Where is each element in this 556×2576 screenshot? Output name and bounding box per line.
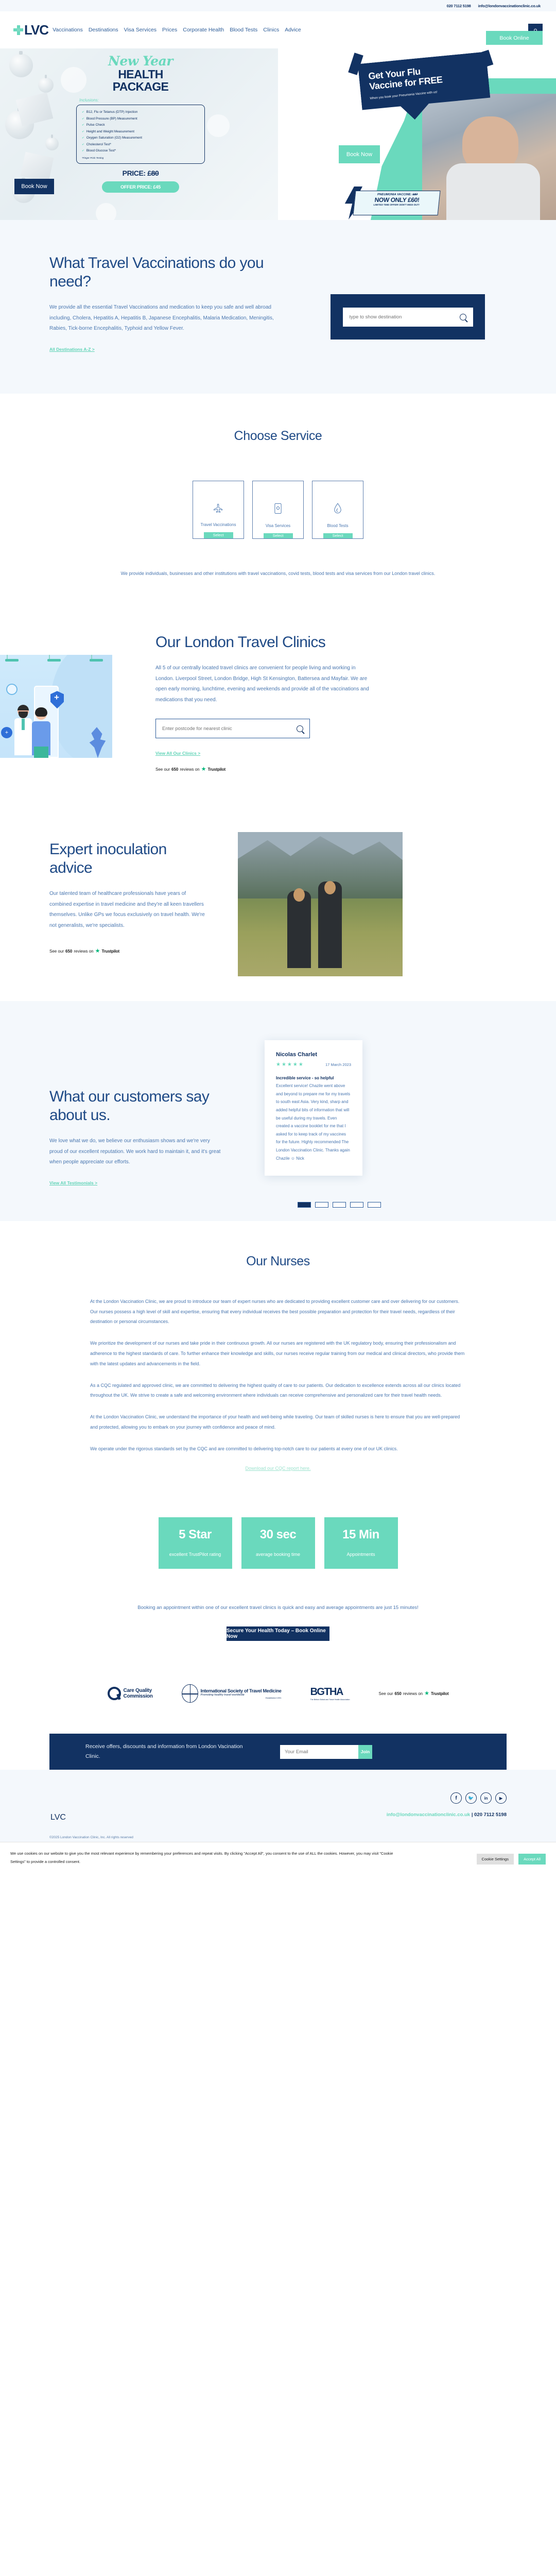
choose-service-note: We provide individuals, businesses and o… bbox=[0, 569, 556, 579]
all-destinations-link[interactable]: All Destinations A-Z > bbox=[49, 347, 95, 352]
newsletter-signup: Receive offers, discounts and informatio… bbox=[49, 1734, 507, 1770]
istm-line1: International Society of Travel Medicine bbox=[201, 1688, 282, 1693]
travel-title: What Travel Vaccinations do you need? bbox=[49, 254, 276, 291]
tp-count: 650 bbox=[395, 1691, 402, 1696]
tp-middle: reviews on bbox=[74, 949, 93, 954]
download-cqc-report-link[interactable]: Download our CQC report here. bbox=[0, 1466, 556, 1471]
price-label: PRICE: bbox=[123, 169, 146, 177]
expert-text-column: Expert inoculation advice Our talented t… bbox=[0, 810, 206, 954]
expert-body: Our talented team of healthcare professi… bbox=[49, 889, 206, 931]
main-navigation: Vaccinations Destinations Visa Services … bbox=[53, 23, 372, 37]
inclusions-footnote: *Finger Prick Testing bbox=[82, 157, 199, 159]
nurses-title: Our Nurses bbox=[0, 1254, 556, 1269]
stat-label: excellent TrustPilot rating bbox=[169, 1551, 221, 1558]
testimonials-text-column: What our customers say about us. We love… bbox=[0, 1040, 221, 1187]
hiker-head bbox=[324, 881, 336, 894]
hero-eyebrow: New Year bbox=[76, 55, 205, 67]
ceiling-lamp-icon bbox=[5, 659, 19, 662]
copyright-text: ©2025 London Vaccination Clinic, Inc. Al… bbox=[49, 1836, 133, 1839]
trustpilot-star-icon: ★ bbox=[201, 767, 206, 772]
youtube-icon[interactable]: ▶ bbox=[495, 1792, 507, 1804]
twitter-icon[interactable]: 🐦 bbox=[465, 1792, 477, 1804]
footer-logo[interactable]: LVC bbox=[49, 1813, 66, 1822]
testimonial-author: Nicolas Charlet bbox=[276, 1052, 351, 1058]
trustpilot-star-icon: ★ bbox=[95, 948, 100, 954]
search-icon[interactable] bbox=[297, 725, 303, 732]
hikers-photo bbox=[238, 832, 403, 976]
stat-value: 30 sec bbox=[260, 1528, 296, 1542]
inclusion-item: B12, Flu or Tetanus (DTP) Injection bbox=[82, 109, 199, 115]
service-card-visa-services[interactable]: Visa Services Select bbox=[252, 481, 304, 539]
stat-trustpilot-rating: 5 Star excellent TrustPilot rating bbox=[159, 1517, 232, 1569]
cookie-consent-banner: We use cookies on our website to give yo… bbox=[0, 1842, 556, 1874]
nav-item-prices[interactable]: Prices bbox=[162, 23, 177, 37]
destination-search-panel bbox=[331, 294, 485, 340]
cqc-line2: Commission bbox=[124, 1693, 153, 1699]
tp-brand: Trustpilot bbox=[102, 949, 119, 954]
testimonial-date: 17 March 2023 bbox=[325, 1062, 351, 1067]
section-expert-advice: Expert inoculation advice Our talented t… bbox=[0, 793, 556, 1001]
clinics-text-column: Our London Travel Clinics All 5 of our c… bbox=[155, 609, 372, 772]
tp-prefix: See our bbox=[155, 767, 170, 772]
pneumonia-note: LIMITED TIME OFFER! DON'T MISS OUT! bbox=[357, 204, 436, 206]
logo-text: LVC bbox=[24, 23, 48, 37]
section-choose-service: Choose Service Travel Vaccinations Selec… bbox=[0, 394, 556, 610]
nav-item-visa-services[interactable]: Visa Services bbox=[124, 23, 157, 37]
tp-count: 650 bbox=[171, 767, 178, 772]
accreditation-badges: Care Quality Commission International So… bbox=[0, 1641, 556, 1734]
facebook-icon[interactable]: f bbox=[450, 1792, 462, 1804]
hero-slide-health-package[interactable]: New Year HEALTHPACKAGE Inclusions: B12, … bbox=[0, 48, 278, 220]
choose-service-title: Choose Service bbox=[0, 429, 556, 444]
section-travel-vaccinations: What Travel Vaccinations do you need? We… bbox=[0, 220, 556, 394]
utility-topbar: 020 7112 5198 info@londonvaccinationclin… bbox=[0, 0, 556, 11]
service-card-blood-tests[interactable]: Blood Tests Select bbox=[312, 481, 363, 539]
section-stats: 5 Star excellent TrustPilot rating 30 se… bbox=[0, 1476, 556, 1641]
stat-label: average booking time bbox=[256, 1551, 300, 1558]
price-old: £80 bbox=[147, 169, 159, 177]
secure-health-cta-button[interactable]: Secure Your Health Today – Book Online N… bbox=[227, 1626, 329, 1641]
sick-woman-photo bbox=[422, 94, 556, 220]
tp-middle: reviews on bbox=[403, 1691, 423, 1696]
stat-booking-time: 30 sec average booking time bbox=[241, 1517, 315, 1569]
view-all-clinics-link[interactable]: View All Our Clinics > bbox=[155, 751, 200, 756]
book-online-button[interactable]: Book Online bbox=[486, 31, 543, 45]
cookie-text: We use cookies on our website to give yo… bbox=[10, 1850, 402, 1866]
footer-email[interactable]: info@londonvaccinationclinic.co.uk bbox=[387, 1812, 470, 1818]
gift-decor bbox=[21, 152, 54, 182]
trustpilot-badge-clinics[interactable]: See our 650 reviews on ★ Trustpilot bbox=[155, 767, 372, 772]
testimonial-body: Excellent service! Chazile went above an… bbox=[276, 1082, 351, 1162]
testimonial-title: Incredible service - so helpful bbox=[276, 1076, 351, 1080]
cookie-accept-all-button[interactable]: Accept All bbox=[518, 1854, 546, 1865]
section-london-clinics: + ✓ Our London Travel Clinics All 5 of o… bbox=[0, 609, 556, 793]
clinic-illustration: + ✓ bbox=[0, 655, 112, 758]
service-card-travel-vaccinations[interactable]: Travel Vaccinations Select bbox=[193, 481, 244, 539]
tp-prefix: See our bbox=[49, 949, 64, 954]
hero-price: PRICE: £80 bbox=[76, 169, 205, 177]
testimonials-body: We love what we do, we believe our enthu… bbox=[49, 1136, 221, 1168]
tp-count: 650 bbox=[65, 949, 72, 954]
inclusion-item: Cholesterol Test* bbox=[82, 142, 199, 148]
badge-bgtha: BGTHA The British Global and Travel Heal… bbox=[310, 1687, 350, 1701]
nurses-paragraph: At the London Vaccination Clinic, we are… bbox=[90, 1297, 466, 1327]
bokeh-decor bbox=[96, 203, 116, 220]
medical-cross-icon bbox=[13, 25, 23, 35]
booking-note: Booking an appointment within one of our… bbox=[0, 1603, 556, 1614]
istm-globe-icon bbox=[182, 1684, 198, 1703]
pager-dot-1[interactable] bbox=[298, 1202, 311, 1208]
section-testimonials: What our customers say about us. We love… bbox=[0, 1001, 556, 1221]
trustpilot-star-icon: ★ bbox=[424, 1691, 429, 1697]
clinics-body: All 5 of our centrally located travel cl… bbox=[155, 663, 372, 705]
travel-text-column: What Travel Vaccinations do you need? We… bbox=[49, 254, 276, 353]
ornament-decor bbox=[45, 137, 59, 150]
nav-item-clinics[interactable]: Clinics bbox=[263, 23, 279, 37]
view-all-testimonials-link[interactable]: View All Testimonials > bbox=[49, 1180, 97, 1185]
badge-istm: International Society of Travel Medicine… bbox=[182, 1684, 282, 1703]
bokeh-decor bbox=[207, 114, 230, 137]
nurses-paragraph: We operate under the rigorous standards … bbox=[90, 1444, 466, 1454]
linkedin-icon[interactable]: in bbox=[480, 1792, 492, 1804]
hero-right-book-now-button[interactable]: Book Now bbox=[339, 145, 380, 163]
hero-left-book-now-button[interactable]: Book Now bbox=[14, 179, 54, 194]
bgtha-sub: The British Global and Travel Health Ass… bbox=[310, 1699, 350, 1701]
section-our-nurses: Our Nurses At the London Vaccination Cli… bbox=[0, 1221, 556, 1476]
tp-brand: Trustpilot bbox=[431, 1691, 448, 1696]
cqc-logo-icon bbox=[108, 1687, 121, 1700]
hiker-figure bbox=[287, 891, 311, 968]
pneumonia-new-price: NOW ONLY £60! bbox=[358, 196, 437, 204]
ornament-decor bbox=[9, 54, 33, 77]
service-card-list: Travel Vaccinations Select Visa Services… bbox=[0, 481, 556, 539]
stat-appointment-length: 15 Min Appointments bbox=[324, 1517, 398, 1569]
badge-care-quality-commission: Care Quality Commission bbox=[108, 1687, 153, 1700]
doctor-avatar bbox=[14, 705, 32, 758]
stat-value: 5 Star bbox=[179, 1528, 212, 1542]
newsletter-text: Receive offers, discounts and informatio… bbox=[85, 1742, 255, 1762]
nav-item-advice[interactable]: Advice bbox=[285, 23, 301, 37]
pager-dot-2[interactable] bbox=[315, 1202, 328, 1208]
hiker-head bbox=[293, 888, 305, 902]
footer-social-links: f 🐦 in ▶ bbox=[49, 1792, 507, 1804]
inclusion-item: Pulse Check bbox=[82, 122, 199, 128]
airplane-icon bbox=[213, 503, 223, 513]
nurses-paragraph: We prioritize the development of our nur… bbox=[90, 1338, 466, 1369]
passport-icon bbox=[274, 503, 282, 514]
footer-separator: | bbox=[472, 1812, 473, 1818]
footer-phone[interactable]: 020 7112 5198 bbox=[474, 1812, 507, 1818]
topbar-email[interactable]: info@londonvaccinationclinic.co.uk bbox=[478, 4, 541, 8]
testimonial-card: Nicolas Charlet ★★★★★ 17 March 2023 Incr… bbox=[265, 1040, 362, 1176]
inclusion-item: Blood Glucose Test* bbox=[82, 148, 199, 154]
inclusions-list: B12, Flu or Tetanus (DTP) Injection Bloo… bbox=[76, 105, 205, 163]
hero-slide-flu-vaccine[interactable]: Get Your Flu Vaccine for FREE When you b… bbox=[278, 48, 556, 220]
footer-contact: info@londonvaccinationclinic.co.uk | 020… bbox=[49, 1812, 507, 1818]
hero-left-content: New Year HEALTHPACKAGE Inclusions: B12, … bbox=[76, 55, 205, 193]
destination-search-field[interactable] bbox=[343, 308, 473, 327]
blood-drop-icon bbox=[334, 503, 342, 514]
nav-item-destinations[interactable]: Destinations bbox=[89, 23, 118, 37]
nav-item-blood-tests[interactable]: Blood Tests bbox=[230, 23, 257, 37]
postcode-search-input[interactable] bbox=[162, 726, 291, 732]
inclusions-label: Inclusions: bbox=[76, 98, 205, 103]
nurse-avatar bbox=[32, 708, 50, 758]
stat-label: Appointments bbox=[346, 1551, 375, 1558]
inclusion-item: Height and Weight Measurement bbox=[82, 129, 199, 135]
newsletter-join-button[interactable]: Join bbox=[358, 1745, 372, 1759]
topbar-phone[interactable]: 020 7112 5198 bbox=[447, 4, 471, 8]
site-footer: f 🐦 in ▶ info@londonvaccinationclinic.co… bbox=[0, 1770, 556, 1842]
pager-dot-4[interactable] bbox=[350, 1202, 363, 1208]
expert-title: Expert inoculation advice bbox=[49, 840, 206, 877]
ornament-decor bbox=[38, 77, 54, 93]
testimonial-stars: ★★★★★ bbox=[276, 1062, 304, 1067]
footer-logo-text: LVC bbox=[50, 1813, 66, 1822]
service-card-label: Travel Vaccinations bbox=[201, 522, 236, 527]
nurses-paragraph: As a CQC regulated and approved clinic, … bbox=[90, 1381, 466, 1401]
service-select-button[interactable]: Select bbox=[204, 532, 233, 538]
gift-decor bbox=[16, 92, 54, 126]
testimonials-title: What our customers say about us. bbox=[49, 1088, 221, 1125]
travel-body: We provide all the essential Travel Vacc… bbox=[49, 302, 276, 334]
nav-item-corporate-health[interactable]: Corporate Health bbox=[183, 23, 224, 37]
service-card-label: Visa Services bbox=[266, 523, 290, 528]
cookie-settings-button[interactable]: Cookie Settings bbox=[477, 1854, 514, 1865]
cookie-actions: Cookie Settings Accept All bbox=[477, 1854, 546, 1865]
clinics-title: Our London Travel Clinics bbox=[155, 633, 372, 652]
testimonial-pager bbox=[298, 1202, 381, 1208]
bgtha-name: BGTHA bbox=[310, 1687, 350, 1697]
service-select-button[interactable]: Select bbox=[264, 533, 293, 538]
istm-line3: Established 1991 bbox=[201, 1697, 282, 1699]
tp-prefix: See our bbox=[379, 1691, 393, 1696]
nav-item-vaccinations[interactable]: Vaccinations bbox=[53, 23, 83, 37]
ceiling-lamp-icon bbox=[47, 659, 61, 662]
tp-middle: reviews on bbox=[180, 767, 199, 772]
header-actions: ⚲ Book Online bbox=[528, 11, 543, 48]
newsletter-form: Join bbox=[280, 1745, 372, 1759]
stat-value: 15 Min bbox=[342, 1528, 379, 1542]
trustpilot-badge-expert[interactable]: See our 650 reviews on ★ Trustpilot bbox=[49, 948, 206, 954]
service-card-label: Blood Tests bbox=[327, 523, 348, 528]
pager-dot-3[interactable] bbox=[333, 1202, 346, 1208]
hero-title-line2: PACKAGE bbox=[113, 80, 168, 93]
hero-title-line1: HEALTH bbox=[118, 67, 163, 81]
nurses-body: At the London Vaccination Clinic, we are… bbox=[90, 1297, 466, 1454]
stats-list: 5 Star excellent TrustPilot rating 30 se… bbox=[0, 1517, 556, 1569]
inclusion-item: Oxygen Saturation (O2) Measurement bbox=[82, 135, 199, 141]
hero-banner: New Year HEALTHPACKAGE Inclusions: B12, … bbox=[0, 48, 556, 220]
site-logo[interactable]: LVC bbox=[13, 23, 48, 37]
service-select-button[interactable]: Select bbox=[323, 533, 353, 538]
trustpilot-badge-footer[interactable]: See our 650 reviews on ★ Trustpilot bbox=[379, 1691, 449, 1697]
inclusion-item: Blood Pressure (BP) Measurement bbox=[82, 116, 199, 122]
newsletter-email-input[interactable] bbox=[280, 1745, 358, 1759]
nurses-paragraph: At the London Vaccination Clinic, we und… bbox=[90, 1412, 466, 1433]
destination-search-input[interactable] bbox=[350, 314, 453, 320]
search-icon[interactable] bbox=[460, 314, 466, 320]
cqc-line1: Care Quality bbox=[124, 1688, 153, 1693]
tp-brand: Trustpilot bbox=[208, 767, 225, 772]
pneumonia-offer-badge: PNEUMONIA VACCINE: £87 NOW ONLY £60! LIM… bbox=[353, 191, 440, 215]
ceiling-lamp-icon bbox=[90, 659, 103, 662]
page-root: 020 7112 5198 info@londonvaccinationclin… bbox=[0, 0, 556, 1874]
offer-price-badge: OFFER PRICE: £45 bbox=[102, 181, 179, 193]
postcode-search-field[interactable] bbox=[155, 719, 310, 738]
site-header: LVC Vaccinations Destinations Visa Servi… bbox=[0, 11, 556, 48]
pager-dot-5[interactable] bbox=[368, 1202, 381, 1208]
